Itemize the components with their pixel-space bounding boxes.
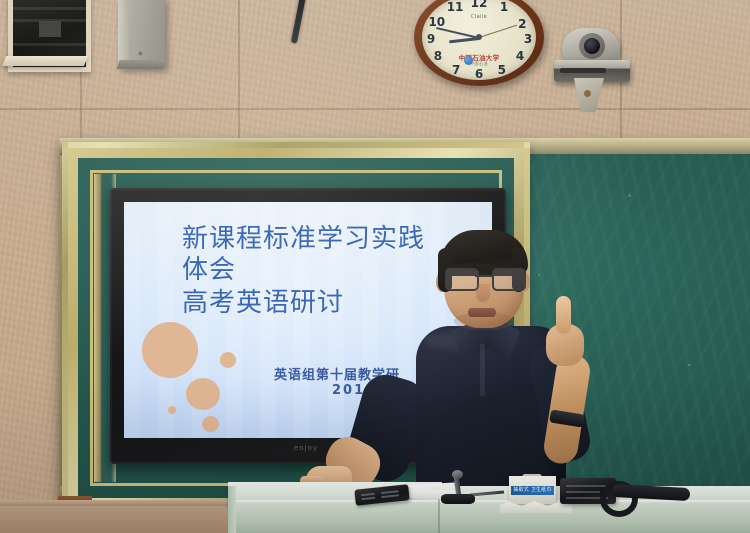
slide-decor-circle: [186, 378, 220, 410]
desk-left-cap: [228, 486, 236, 533]
slide-decor-circle: [202, 416, 219, 432]
slide-decor-circle: [142, 322, 198, 378]
camera-lens-icon: [584, 38, 600, 54]
wall-speaker: [118, 0, 165, 68]
wall-clock: 12 1 2 3 4 5 6 7 8 9 10 11 Claile 中国石油大学…: [414, 0, 544, 86]
chin-shadow: [454, 312, 514, 330]
clock-second-hand: [479, 25, 517, 38]
clock-numeral: 3: [524, 32, 532, 46]
vent-sill: [2, 56, 88, 66]
classroom-photo: 12 1 2 3 4 5 6 7 8 9 10 11 Claile 中国石油大学…: [0, 0, 750, 533]
clock-accent-dot: [464, 56, 473, 65]
glasses-lens-left: [445, 268, 479, 291]
desk-front-panel: [228, 503, 750, 533]
speaker-screw: [138, 51, 143, 56]
ptz-camera: [548, 22, 638, 112]
slide-year: 201: [332, 383, 365, 398]
clock-numeral: 1: [500, 0, 508, 14]
clock-numeral: 12: [471, 0, 488, 10]
clock-minute-hand: [436, 27, 479, 39]
clock-brand-text: Claile: [471, 14, 487, 20]
clock-numeral: 11: [447, 0, 464, 14]
teacher-figure: [400, 226, 600, 516]
floor: [0, 506, 228, 533]
screen-brand-logo: enjoy: [286, 444, 326, 452]
desktop-microphone[interactable]: [441, 494, 475, 504]
clock-numeral: 4: [516, 49, 524, 63]
camera-vent-slot: [560, 68, 606, 73]
speaker-underside: [117, 60, 167, 69]
camera-mount-bolt: [584, 90, 591, 97]
tissue-box-label-text: 抽取式 卫生纸巾: [512, 486, 553, 495]
clock-center-pin: [476, 34, 482, 40]
speaker-face: [118, 0, 129, 68]
glasses-lens-right: [492, 268, 526, 291]
glasses-bridge: [475, 275, 493, 277]
clock-numeral: 2: [518, 17, 526, 31]
clock-numeral: 5: [498, 63, 506, 77]
slide-decor-circle: [220, 352, 236, 368]
raised-index-finger: [556, 296, 571, 334]
microphone-head-icon: [452, 470, 463, 479]
clock-numeral: 6: [475, 67, 483, 81]
vent-panel: [39, 21, 61, 37]
slide-title-line1: 新课程标准学习实践: [182, 224, 425, 254]
clock-numeral: 8: [434, 49, 442, 63]
shirt-placket: [480, 344, 485, 396]
clock-numeral: 7: [452, 63, 460, 77]
clock-numeral: 9: [427, 32, 435, 46]
slide-decor-circle: [168, 406, 176, 414]
nose: [476, 284, 490, 302]
